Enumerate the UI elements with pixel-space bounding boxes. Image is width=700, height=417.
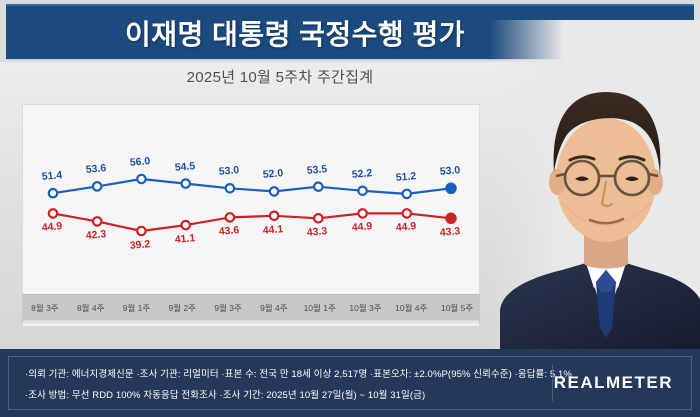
data-label: 39.2: [130, 238, 151, 252]
line-chart-svg: [23, 105, 481, 295]
data-label: 56.0: [130, 155, 151, 169]
data-label: 53.6: [86, 163, 107, 177]
data-point: [182, 221, 190, 229]
axis-shadow: [22, 320, 480, 326]
x-axis-tick-label: 8월 4주: [68, 302, 114, 314]
x-axis-tick-label: 10월 4주: [388, 302, 434, 314]
data-point: [270, 212, 278, 220]
data-label: 44.1: [262, 223, 283, 237]
data-point: [226, 184, 234, 192]
data-point: [49, 209, 57, 217]
x-axis-tick-label: 10월 3주: [343, 302, 389, 314]
data-point: [226, 213, 234, 221]
data-label: 51.2: [395, 170, 416, 184]
chart-plot-area: [23, 105, 481, 295]
x-axis-tick-label: 9월 1주: [114, 302, 160, 314]
data-label: 41.1: [174, 232, 195, 246]
data-label: 44.9: [41, 220, 62, 234]
x-axis-tick-label: 10월 5주: [434, 302, 480, 314]
page-title: 이재명 대통령 국정수행 평가: [125, 13, 465, 53]
data-label: 43.3: [307, 225, 328, 239]
data-label: 42.3: [86, 229, 107, 243]
data-point: [93, 182, 101, 190]
data-point: [446, 213, 456, 223]
data-point: [358, 187, 366, 195]
chart-panel: [22, 104, 480, 326]
data-point: [270, 187, 278, 195]
data-point: [446, 183, 456, 193]
data-label: 52.2: [351, 167, 372, 181]
data-label: 44.9: [395, 220, 416, 234]
x-axis-tick-label: 9월 2주: [159, 302, 205, 314]
series-line-disapprove: [53, 213, 451, 231]
data-label: 54.5: [174, 160, 195, 174]
data-point: [137, 175, 145, 183]
header-bar-container: 이재명 대통령 국정수행 평가: [0, 0, 700, 62]
x-axis-tick-label: 8월 3주: [22, 302, 68, 314]
data-label: 43.3: [439, 225, 460, 239]
data-point: [93, 217, 101, 225]
chart-subtitle: 2025년 10월 5주차 주간집계: [0, 66, 560, 87]
data-point: [182, 179, 190, 187]
realmeter-logo: REALMETER: [554, 373, 673, 393]
x-axis-tick-label: 9월 4주: [251, 302, 297, 314]
data-label: 52.0: [262, 168, 283, 182]
footer-panel: ·의뢰 기관: 에너지경제신문 ·조사 기관: 리얼미터 ·표본 수: 전국 만…: [0, 349, 700, 417]
series-line-approve: [53, 179, 451, 194]
data-label: 51.4: [41, 169, 62, 183]
data-label: 53.0: [439, 164, 460, 178]
data-label: 53.5: [307, 163, 328, 177]
data-label: 53.0: [218, 164, 239, 178]
data-point: [314, 183, 322, 191]
data-point: [314, 214, 322, 222]
data-point: [358, 209, 366, 217]
x-axis-labels: 8월 3주8월 4주9월 1주9월 2주9월 3주9월 4주10월 1주10월 …: [22, 294, 480, 320]
data-label: 44.9: [351, 220, 372, 234]
data-point: [403, 209, 411, 217]
x-axis-tick-label: 9월 3주: [205, 302, 251, 314]
poll-graphic: 이재명 대통령 국정수행 평가 2025년 10월 5주차 주간집계 51.45…: [0, 0, 700, 417]
data-point: [49, 189, 57, 197]
data-point: [403, 190, 411, 198]
data-label: 43.6: [218, 225, 239, 239]
data-point: [137, 227, 145, 235]
x-axis-tick-label: 10월 1주: [297, 302, 343, 314]
header-bar: 이재명 대통령 국정수행 평가: [6, 4, 694, 59]
footer-inner: ·의뢰 기관: 에너지경제신문 ·조사 기관: 리얼미터 ·표본 수: 전국 만…: [8, 356, 692, 410]
